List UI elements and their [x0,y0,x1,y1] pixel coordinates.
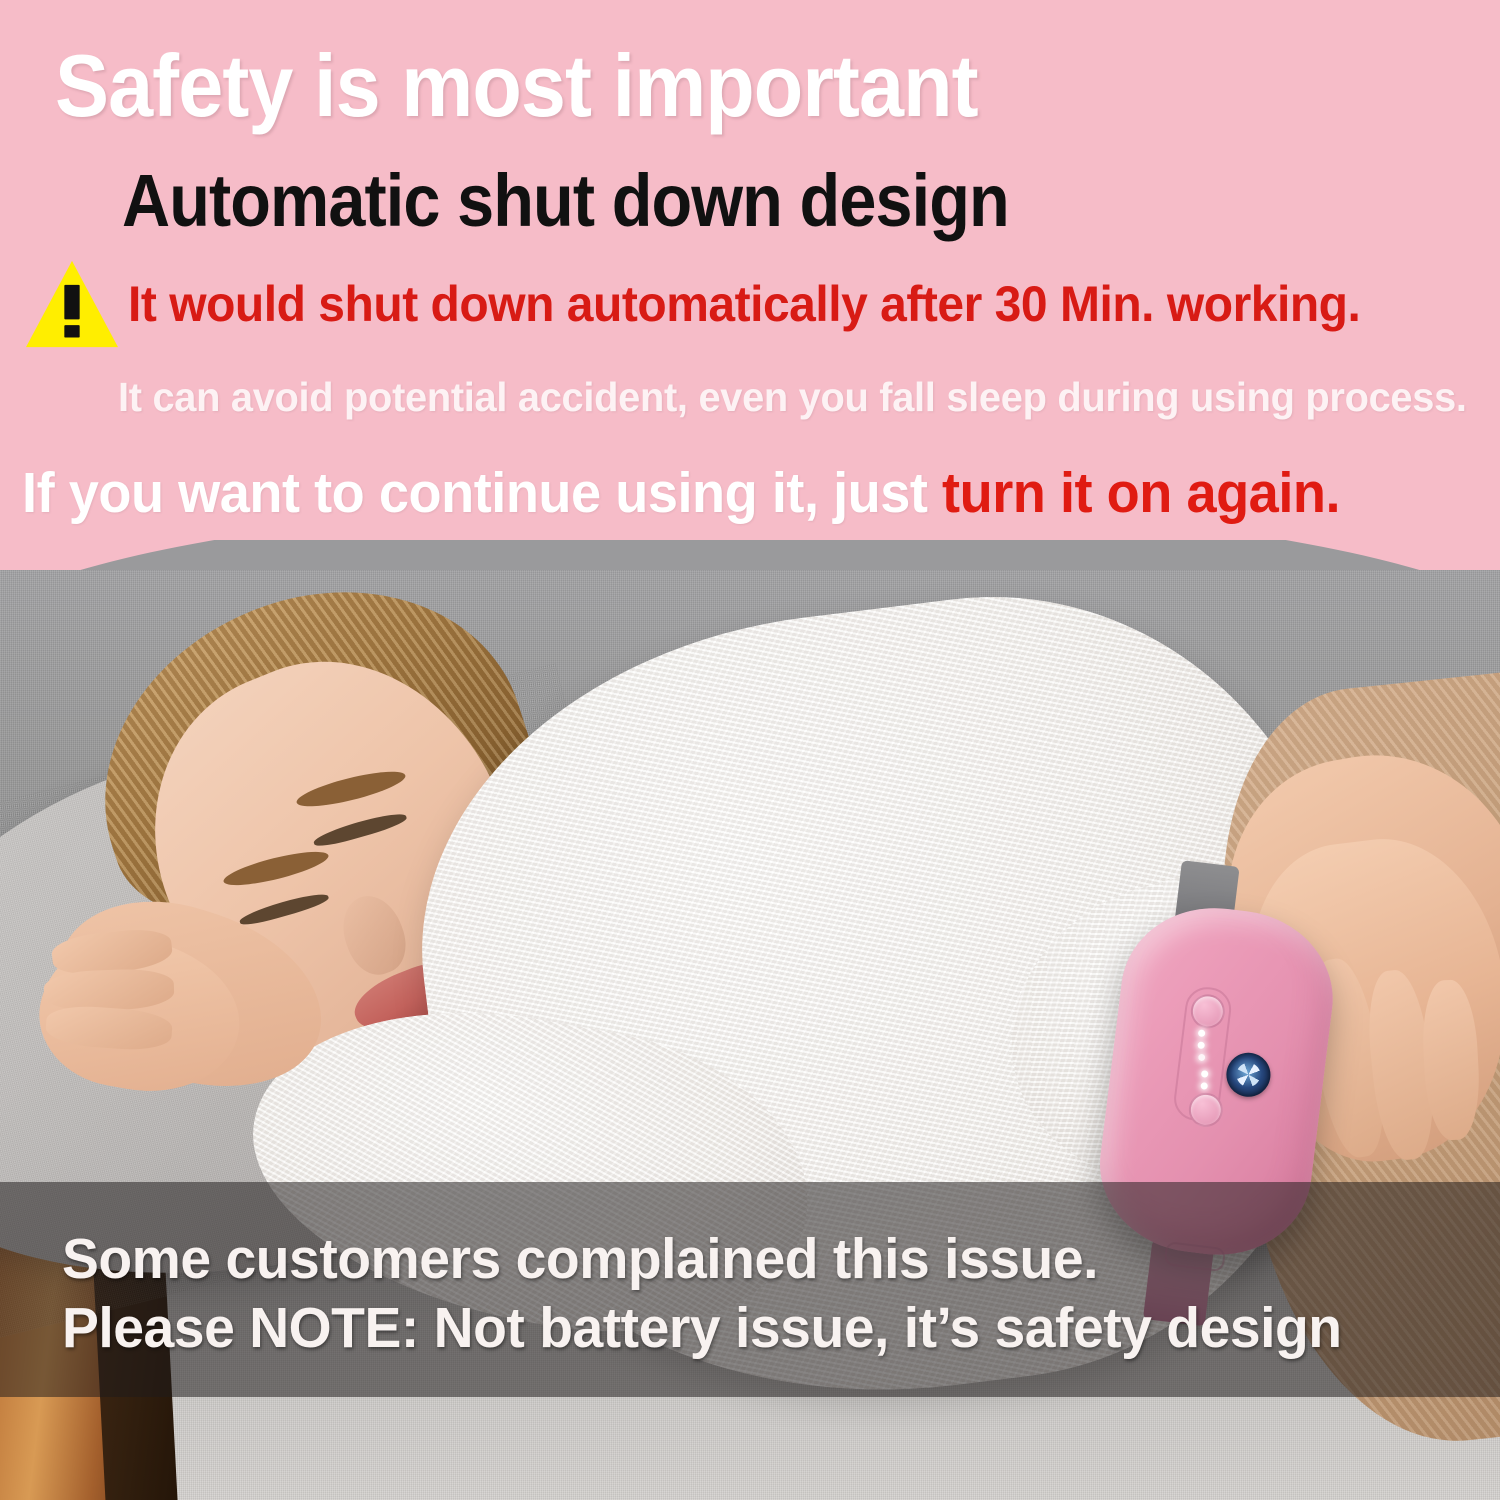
continue-accent: turn it on again. [942,461,1340,525]
banner-complaint-line: Some customers complained this issue. [62,1228,1098,1290]
warning-row: It would shut down automatically after 3… [24,258,1494,350]
poster-headline: Safety is most important [55,38,1343,134]
headline-text-zone: Safety is most important Automatic shut … [0,0,1500,560]
continue-prefix: If you want to continue using it, just [22,461,942,525]
continue-using-line: If you want to continue using it, just t… [22,460,1340,526]
avoid-accident-note: It can avoid potential accident, even yo… [118,372,1467,422]
poster-subheadline: Automatic shut down design [122,160,1337,242]
product-infographic-poster: Safety is most important Automatic shut … [0,0,1500,1500]
warning-triangle-icon [24,258,120,350]
warning-text: It would shut down automatically after 3… [128,276,1360,332]
banner-note-line: Please NOTE: Not battery issue, it’s saf… [62,1297,1342,1359]
